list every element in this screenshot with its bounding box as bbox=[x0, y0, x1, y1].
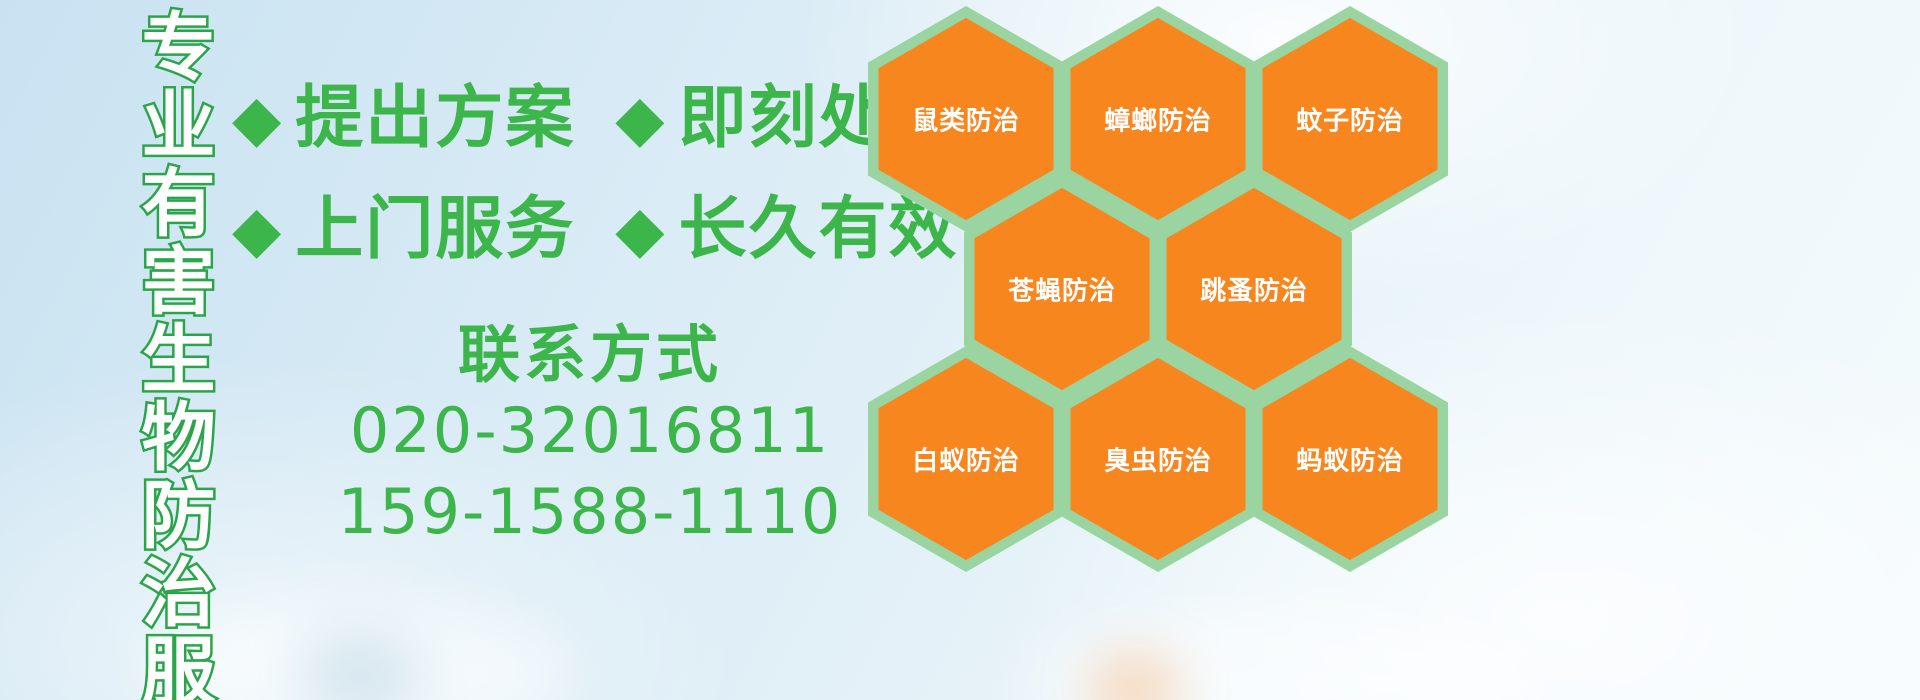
promo-banner: 专业有害生物防治服务 ◆ 提出方案 ◆ 即刻处理 ◆ 上门服务 ◆ 长久有效 联… bbox=[0, 0, 1920, 700]
hex-label: 跳蚤防治 bbox=[1200, 270, 1307, 308]
vertical-slogan: 专业有害生物防治服务 bbox=[105, 8, 209, 700]
feature-row-2: ◆ 上门服务 ◆ 长久有效 bbox=[232, 196, 958, 264]
diamond-bullet-icon: ◆ bbox=[615, 198, 664, 262]
contact-phone-landline[interactable]: 020-32016811 bbox=[280, 391, 900, 472]
hex-label: 蟑螂防治 bbox=[1104, 100, 1211, 138]
hex-label: 苍蝇防治 bbox=[1008, 270, 1115, 308]
hex-cell-bedbug-control[interactable]: 臭虫防治 bbox=[1060, 346, 1256, 572]
diamond-bullet-icon: ◆ bbox=[232, 198, 281, 262]
contact-block: 联系方式 020-32016811 159-1588-1110 bbox=[280, 318, 900, 552]
diamond-bullet-icon: ◆ bbox=[232, 87, 281, 151]
diamond-bullet-icon: ◆ bbox=[615, 87, 664, 151]
hex-label: 蚂蚁防治 bbox=[1296, 440, 1403, 478]
feature-row-1: ◆ 提出方案 ◆ 即刻处理 bbox=[232, 85, 958, 153]
hex-label: 蚊子防治 bbox=[1296, 100, 1403, 138]
feature-item-onsite-service: 上门服务 bbox=[295, 196, 575, 264]
service-honeycomb: 鼠类防治 蟑螂防治 蚊子防治 苍蝇防治 跳蚤防治 bbox=[860, 0, 1920, 700]
hex-cell-termite-control[interactable]: 白蚁防治 bbox=[868, 346, 1064, 572]
hex-label: 白蚁防治 bbox=[912, 440, 1019, 478]
background-haze bbox=[300, 630, 420, 700]
hex-label: 鼠类防治 bbox=[912, 100, 1019, 138]
hex-cell-ant-control[interactable]: 蚂蚁防治 bbox=[1252, 346, 1448, 572]
hex-label: 臭虫防治 bbox=[1104, 440, 1211, 478]
contact-phone-mobile[interactable]: 159-1588-1110 bbox=[280, 472, 900, 553]
contact-title: 联系方式 bbox=[280, 318, 900, 391]
feature-item-propose-plan: 提出方案 bbox=[295, 85, 575, 153]
